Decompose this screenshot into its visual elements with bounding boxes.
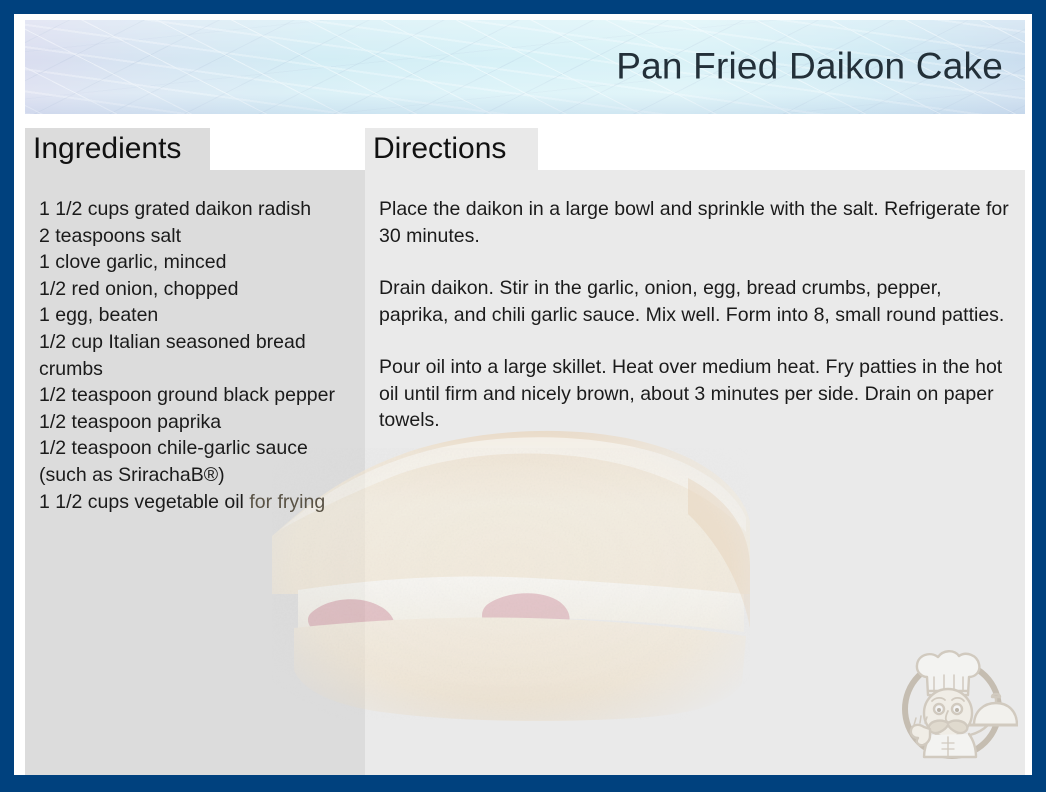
list-item: 1/2 teaspoon chile-garlic sauce (such as…: [39, 435, 350, 488]
list-item-oil-amount: 1 1/2 cups vegetable oil: [39, 491, 244, 513]
page-title: Pan Fried Daikon Cake: [616, 48, 1003, 87]
tab-ingredients[interactable]: Ingredients: [25, 128, 210, 170]
direction-step: Pour oil into a large skillet. Heat over…: [379, 354, 1009, 434]
directions-steps: Place the daikon in a large bowl and spr…: [379, 196, 1009, 434]
list-item: 1/2 cup Italian seasoned bread crumbs: [39, 329, 350, 382]
tab-directions-label: Directions: [373, 132, 506, 165]
ingredients-panel: 1 1/2 cups grated daikon radish 2 teaspo…: [25, 170, 366, 775]
list-item: 2 teaspoons salt: [39, 223, 350, 250]
recipe-card: Pan Fried Daikon Cake Ingredients 1 1/2 …: [0, 0, 1046, 792]
list-item-oil: 1 1/2 cups vegetable oil for frying: [39, 489, 350, 516]
tab-ingredients-label: Ingredients: [33, 132, 181, 165]
list-item: 1/2 red onion, chopped: [39, 276, 350, 303]
directions-panel: Place the daikon in a large bowl and spr…: [365, 170, 1025, 775]
list-item-oil-note: for frying: [244, 491, 325, 513]
list-item: 1 egg, beaten: [39, 302, 350, 329]
ingredients-list: 1 1/2 cups grated daikon radish 2 teaspo…: [39, 196, 350, 515]
list-item: 1 clove garlic, minced: [39, 249, 350, 276]
list-item: 1/2 teaspoon ground black pepper: [39, 382, 350, 409]
recipe-page: Pan Fried Daikon Cake Ingredients 1 1/2 …: [14, 14, 1032, 775]
header-banner: Pan Fried Daikon Cake: [25, 20, 1025, 114]
tab-directions[interactable]: Directions: [365, 128, 538, 170]
direction-step: Place the daikon in a large bowl and spr…: [379, 196, 1009, 249]
list-item: 1 1/2 cups grated daikon radish: [39, 196, 350, 223]
list-item: 1/2 teaspoon paprika: [39, 409, 350, 436]
direction-step: Drain daikon. Stir in the garlic, onion,…: [379, 275, 1009, 328]
